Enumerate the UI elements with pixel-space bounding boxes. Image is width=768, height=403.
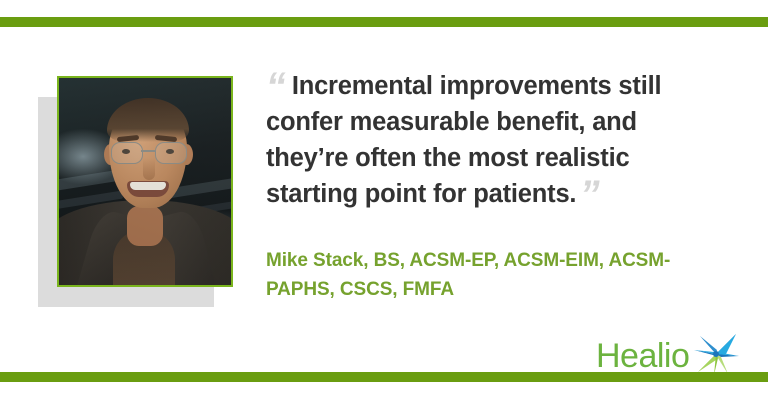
quote-attribution: Mike Stack, BS, ACSM-EP, ACSM-EIM, ACSM-… [266,246,686,304]
portrait-neck [127,206,163,246]
star-burst-icon [692,332,740,376]
quote-body: Incremental improvements still confer me… [266,72,661,208]
portrait-photo [59,78,231,285]
bottom-green-rule [0,372,768,382]
top-green-rule [0,17,768,27]
portrait-block [38,76,238,311]
portrait-frame [57,76,233,287]
eyeglass-bridge [141,150,155,152]
healio-wordmark: Healio [596,336,689,376]
eyeglass-lens-left [111,142,143,164]
quote-card: “Incremental improvements still confer m… [0,0,768,403]
eyeglass-lens-right [155,142,187,164]
portrait-teeth [130,182,166,190]
portrait-mouth [127,181,169,197]
portrait-nose [143,158,155,180]
quote-text: “Incremental improvements still confer m… [266,68,686,212]
quote-area: “Incremental improvements still confer m… [266,68,686,212]
